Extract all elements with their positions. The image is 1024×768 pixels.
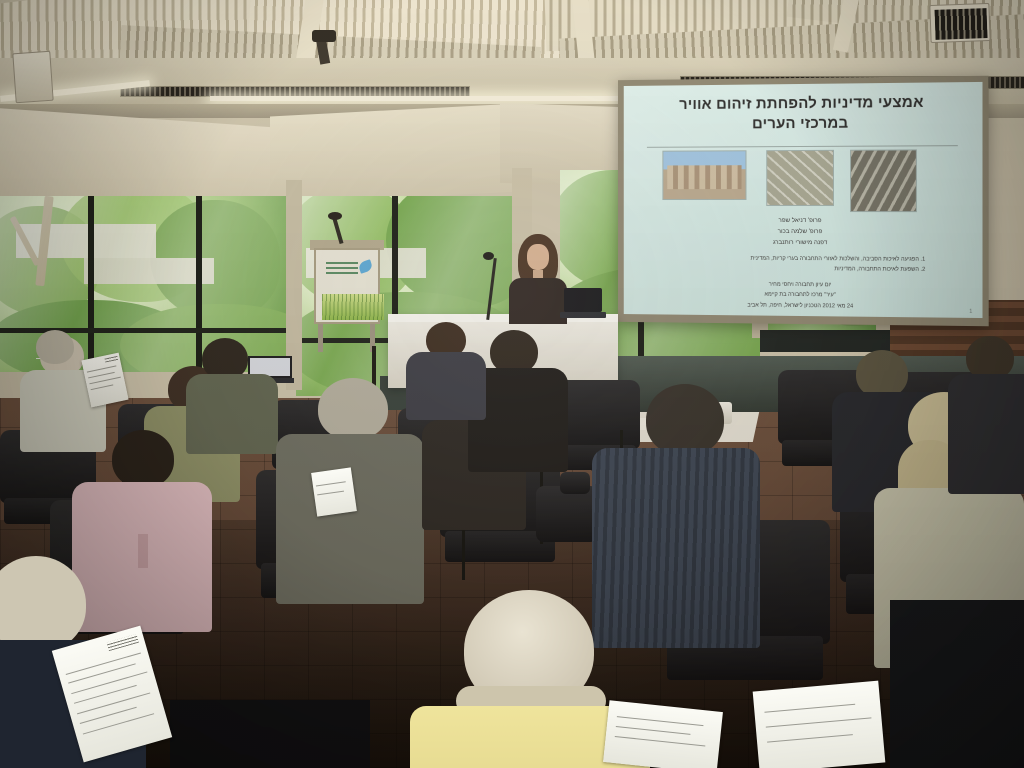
fabric-awning (270, 103, 520, 204)
aerial-map-photo (766, 150, 834, 206)
slide-divider (647, 145, 958, 148)
slide-footer-line: 24 מאי 2012 הטכניון לישראל, חיפה, תל אבי… (631, 299, 974, 313)
backpack (536, 486, 598, 542)
lecture-hall-photo: אמצעי מדיניות להפחתת זיהום אוויר במרכזי … (0, 0, 1024, 768)
microphone-icon (328, 212, 342, 220)
dark-band (760, 330, 890, 352)
slide-footer: יום עיון תחבורה ויחסי מחיר "עיר" מרכז לת… (631, 279, 974, 313)
handout-paper (311, 467, 357, 516)
environment-ministry-logo (326, 260, 372, 276)
leaf-icon (358, 259, 374, 273)
ceiling-light (210, 96, 650, 101)
bag-strap (560, 472, 590, 494)
projected-slide: אמצעי מדיניות להפחתת זיהום אוויר במרכזי … (624, 82, 983, 318)
handout-paper (603, 700, 723, 768)
pa-speaker (12, 51, 53, 104)
projection-screen: אמצעי מדיניות להפחתת זיהום אוויר במרכזי … (618, 76, 989, 327)
microphone-icon (483, 252, 494, 260)
podium-leg (318, 324, 323, 352)
slide-image-row (653, 149, 952, 212)
foreground-chair-right (890, 600, 1024, 768)
presenter-torso (509, 278, 567, 324)
slide-page-number: 1 (969, 309, 972, 315)
podium (310, 240, 384, 352)
foreground-shadow (170, 700, 370, 768)
roadway-photo (850, 149, 917, 212)
slide-author: דפנה מישורי רותנברג (631, 237, 974, 249)
slide-bullet: השפעת לאיכות התחבורה, המדיניות (660, 263, 918, 275)
slide-title-line2: במרכזי הערים (631, 113, 974, 136)
slide-authors: פרופ' דניאל שפר פרופ' שלמה בכור דפנה מיש… (631, 216, 974, 250)
pa-speaker (929, 3, 990, 43)
slide-author: פרופ' דניאל שפר (631, 216, 974, 228)
presenter-face (527, 244, 549, 270)
slide-title-line1: אמצעי מדיניות להפחתת זיהום אוויר (631, 92, 974, 115)
projector-head (312, 30, 336, 42)
grass-graphic (322, 294, 384, 320)
handout-paper (753, 681, 886, 768)
podium-front-panel (314, 248, 380, 324)
city-street-photo (662, 150, 746, 200)
slide-title: אמצעי מדיניות להפחתת זיהום אוויר במרכזי … (631, 92, 974, 135)
slide-bullet-list: הפגיעה לאיכות הסביבה, והשלכות לאזורי התח… (660, 253, 959, 276)
presenter-laptop (560, 288, 604, 320)
